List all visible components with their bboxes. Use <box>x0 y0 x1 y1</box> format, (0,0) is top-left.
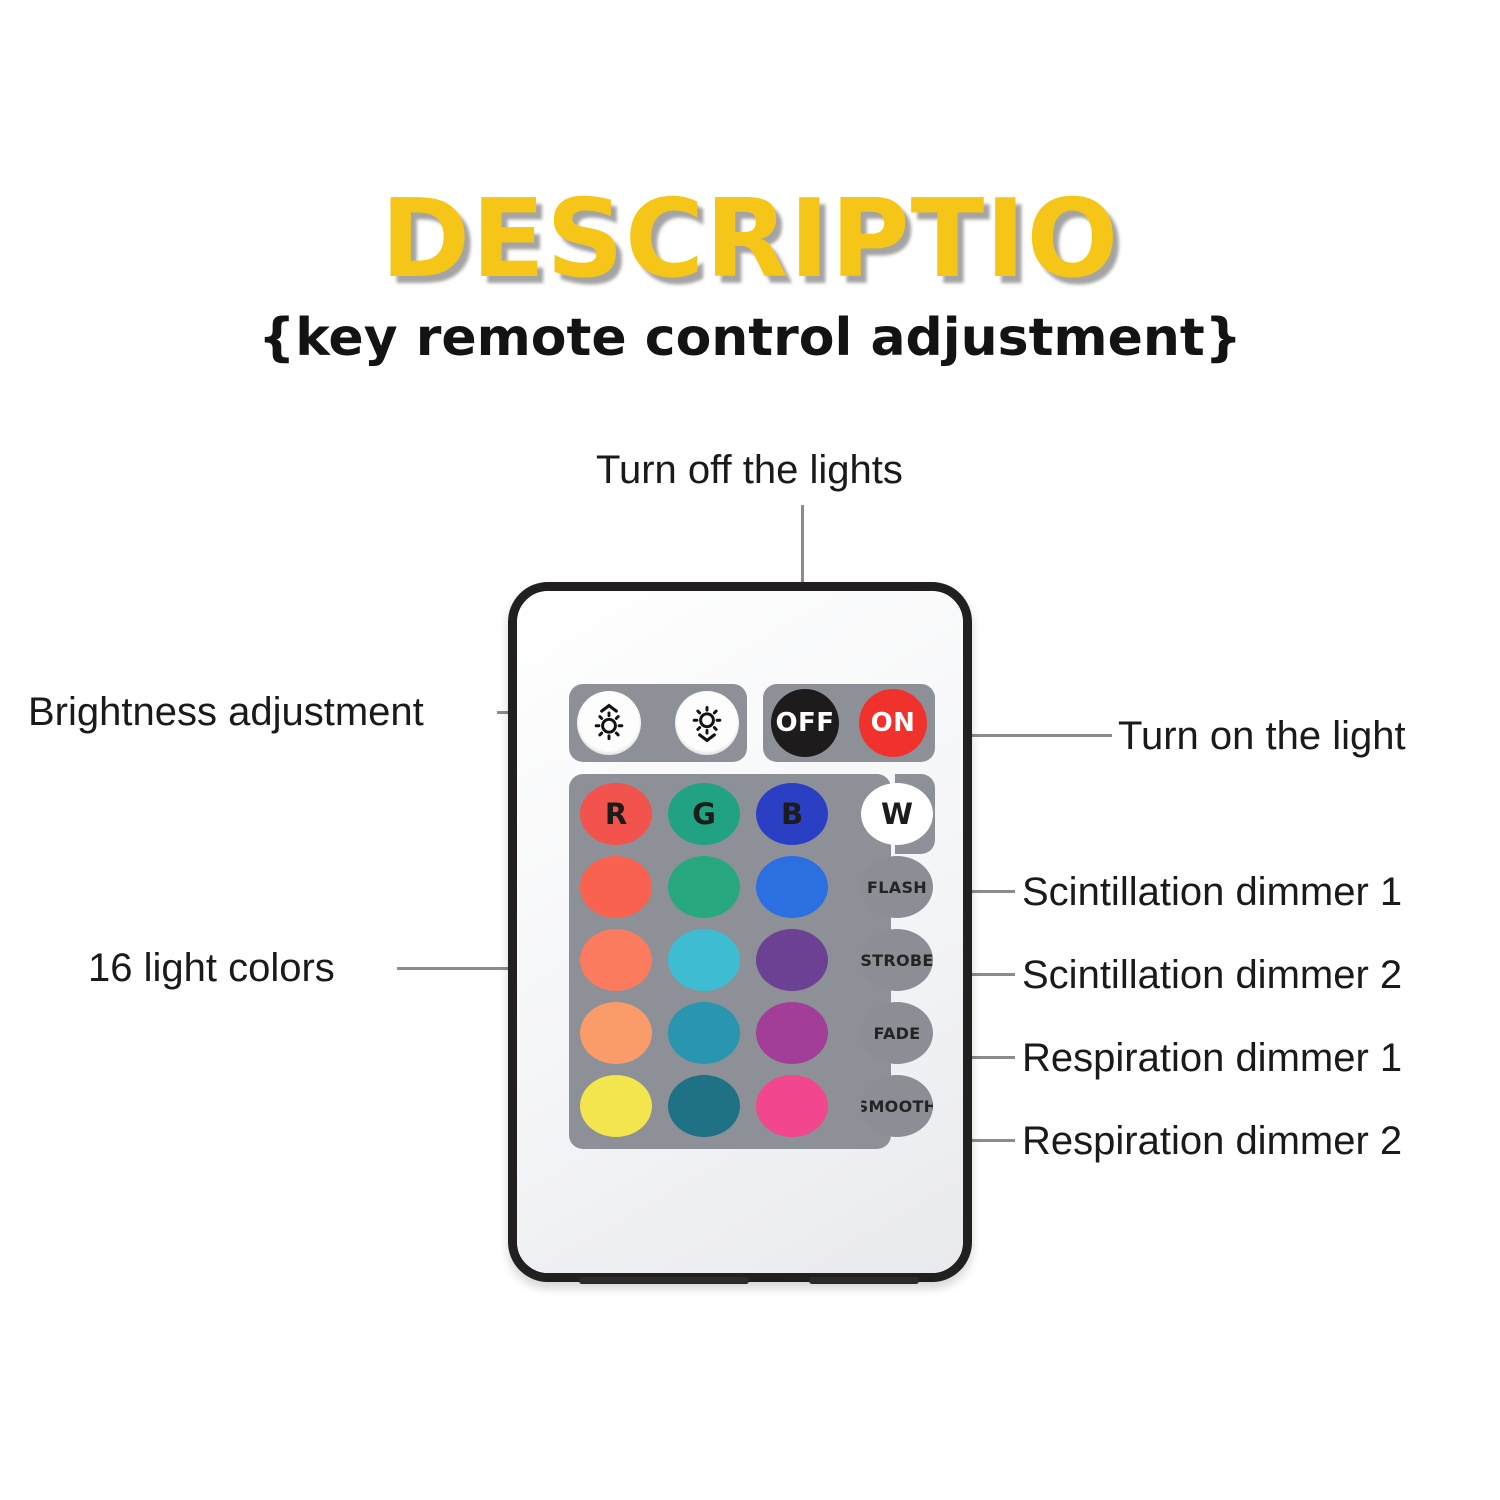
page-title: DESCRIPTIO <box>0 186 1500 294</box>
brightness-panel <box>569 684 747 762</box>
color-swatch-2-0[interactable] <box>580 1002 652 1064</box>
page-subtitle: {key remote control adjustment} <box>0 312 1500 364</box>
fade-button[interactable]: FADE <box>861 1002 933 1064</box>
color-swatch-2-2[interactable] <box>756 1002 828 1064</box>
color-button-red[interactable]: R <box>580 783 652 845</box>
sun-down-icon <box>685 701 729 745</box>
color-button-green[interactable]: G <box>668 783 740 845</box>
callout-turn-off: Turn off the lights <box>596 450 903 490</box>
color-swatch-0-0[interactable] <box>580 856 652 918</box>
remote-foot-left <box>579 1277 749 1284</box>
callout-flash: Scintillation dimmer 1 <box>1022 872 1402 912</box>
callout-16-colors: 16 light colors <box>88 948 335 988</box>
brightness-up-button[interactable] <box>577 691 641 755</box>
color-swatch-3-0[interactable] <box>580 1075 652 1137</box>
color-swatch-3-2[interactable] <box>756 1075 828 1137</box>
color-swatch-2-1[interactable] <box>668 1002 740 1064</box>
remote-face: OFF ON R G B <box>517 591 963 1273</box>
callout-turn-on: Turn on the light <box>1118 716 1406 756</box>
on-button[interactable]: ON <box>859 689 927 757</box>
callout-smooth: Respiration dimmer 2 <box>1022 1121 1402 1161</box>
callout-strobe: Scintillation dimmer 2 <box>1022 955 1402 995</box>
infographic-page: DESCRIPTIO {key remote control adjustmen… <box>0 0 1500 1500</box>
off-button[interactable]: OFF <box>771 689 839 757</box>
color-swatch-0-1[interactable] <box>668 856 740 918</box>
color-swatch-1-0[interactable] <box>580 929 652 991</box>
remote-foot-right <box>809 1277 919 1284</box>
color-swatch-1-1[interactable] <box>668 929 740 991</box>
callout-fade: Respiration dimmer 1 <box>1022 1038 1402 1078</box>
sun-up-icon <box>587 701 631 745</box>
strobe-button[interactable]: STROBE <box>861 929 933 991</box>
color-button-white[interactable]: W <box>861 783 933 845</box>
color-swatch-0-2[interactable] <box>756 856 828 918</box>
color-grid-panel: R G B <box>569 774 891 1149</box>
color-button-blue[interactable]: B <box>756 783 828 845</box>
brightness-down-button[interactable] <box>675 691 739 755</box>
smooth-button[interactable]: SMOOTH <box>861 1075 933 1137</box>
remote-control-device: OFF ON R G B <box>508 582 972 1282</box>
color-swatch-1-2[interactable] <box>756 929 828 991</box>
power-panel: OFF ON <box>763 684 935 762</box>
flash-button[interactable]: FLASH <box>861 856 933 918</box>
callout-brightness: Brightness adjustment <box>28 692 424 732</box>
color-swatch-3-1[interactable] <box>668 1075 740 1137</box>
